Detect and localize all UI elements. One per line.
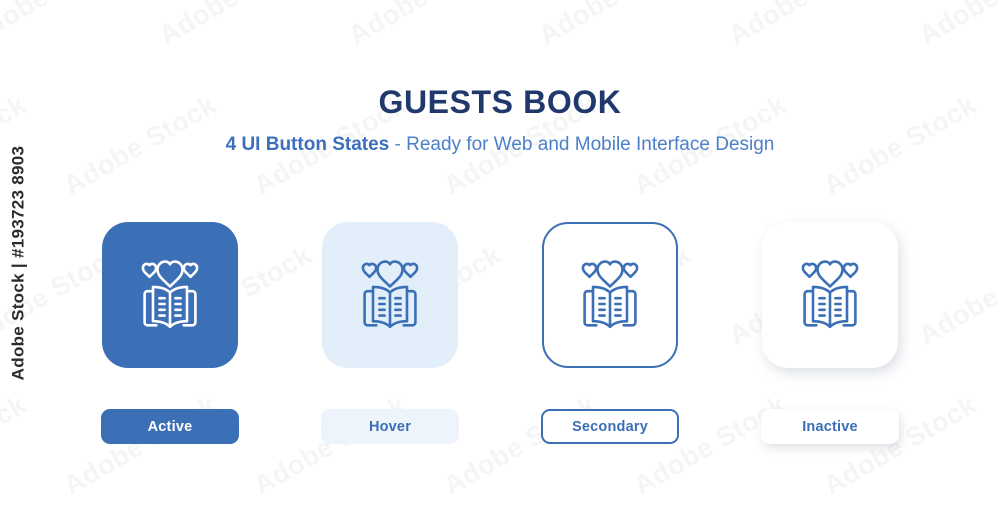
state-button-label: Active <box>148 419 193 435</box>
page-subtitle: 4 UI Button States - Ready for Web and M… <box>0 134 1000 156</box>
state-button-hover[interactable]: Hover <box>321 409 459 444</box>
page-title: GUESTS BOOK <box>0 84 1000 121</box>
button-states-row: Active <box>0 214 1000 454</box>
icon-tile-hover[interactable] <box>322 222 458 368</box>
state-button-label: Secondary <box>572 419 648 435</box>
state-column-hover: Hover <box>280 214 500 454</box>
icon-tile-secondary[interactable] <box>542 222 678 368</box>
state-button-label: Hover <box>369 419 411 435</box>
guests-book-icon <box>787 254 873 336</box>
state-column-active: Active <box>60 214 280 454</box>
guests-book-icon <box>127 254 213 336</box>
state-column-secondary: Secondary <box>500 214 720 454</box>
state-button-inactive[interactable]: Inactive <box>761 409 899 444</box>
page-subtitle-strong: 4 UI Button States <box>226 134 390 155</box>
state-button-secondary[interactable]: Secondary <box>541 409 679 444</box>
guests-book-icon <box>347 254 433 336</box>
guests-book-icon <box>567 254 653 336</box>
state-column-inactive: Inactive <box>720 214 940 454</box>
page-subtitle-dash: - <box>389 134 406 155</box>
state-button-label: Inactive <box>802 419 858 435</box>
page-subtitle-rest: Ready for Web and Mobile Interface Desig… <box>406 134 774 155</box>
state-button-active[interactable]: Active <box>101 409 239 444</box>
icon-tile-active[interactable] <box>102 222 238 368</box>
icon-tile-inactive[interactable] <box>762 222 898 368</box>
page-content: GUESTS BOOK 4 UI Button States - Ready f… <box>0 0 1000 526</box>
